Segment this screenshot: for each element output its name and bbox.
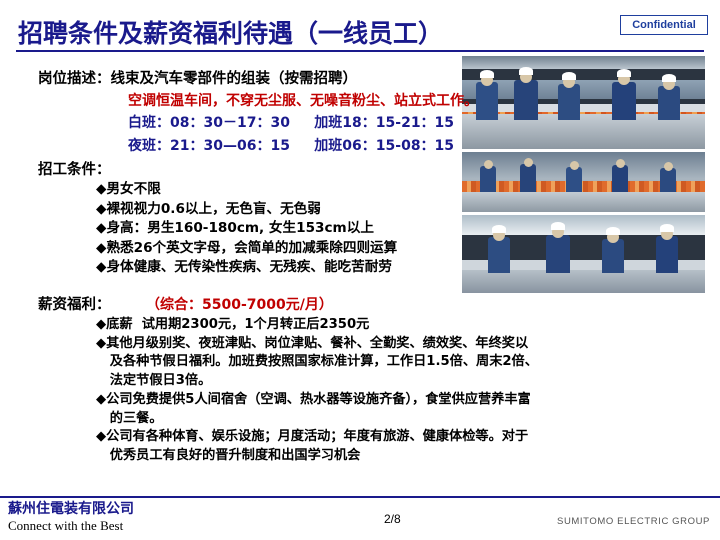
company-tagline: Connect with the Best	[8, 518, 123, 534]
title-divider	[16, 50, 704, 52]
page-title: 招聘条件及薪资福利待遇（一线员工）	[18, 14, 443, 50]
company-name-cn: 蘇州住電装有限公司	[8, 498, 134, 518]
brand-mark: SUMITOMO ELECTRIC GROUP	[557, 516, 710, 527]
salary-label: 薪资福利：	[38, 296, 111, 316]
page-number: 2/8	[384, 512, 401, 526]
slide: 招聘条件及薪资福利待遇（一线员工） Confidential	[0, 0, 720, 540]
confidential-badge: Confidential	[620, 15, 708, 35]
benefits-list: ◆底薪 试用期2300元，1个月转正后2350元 ◆其他月级别奖、夜班津贴、岗位…	[96, 316, 538, 466]
job-description-label: 岗位描述：线束及汽车零部件的组装（按需招聘）	[38, 70, 357, 90]
shift-night-text: 夜班：21：30—06：15 加班06：15-08：15	[128, 137, 454, 156]
workers-bench-photo	[462, 215, 705, 293]
salary-range: （综合：5500-7000元/月）	[146, 296, 333, 315]
requirements-label: 招工条件：	[38, 161, 111, 181]
factory-assembly-line-photo	[462, 56, 705, 149]
requirements-list: ◆男女不限 ◆裸视视力0.6以上，无色盲、无色弱 ◆身高：男生160-180cm…	[96, 180, 397, 278]
shift-day-text: 白班：08：30－17：30 加班18：15-21：15	[128, 114, 454, 133]
job-description-note: 空调恒温车间，不穿无尘服、无噪音粉尘、站立式工作。	[128, 92, 478, 111]
workshop-overview-photo	[462, 152, 705, 212]
